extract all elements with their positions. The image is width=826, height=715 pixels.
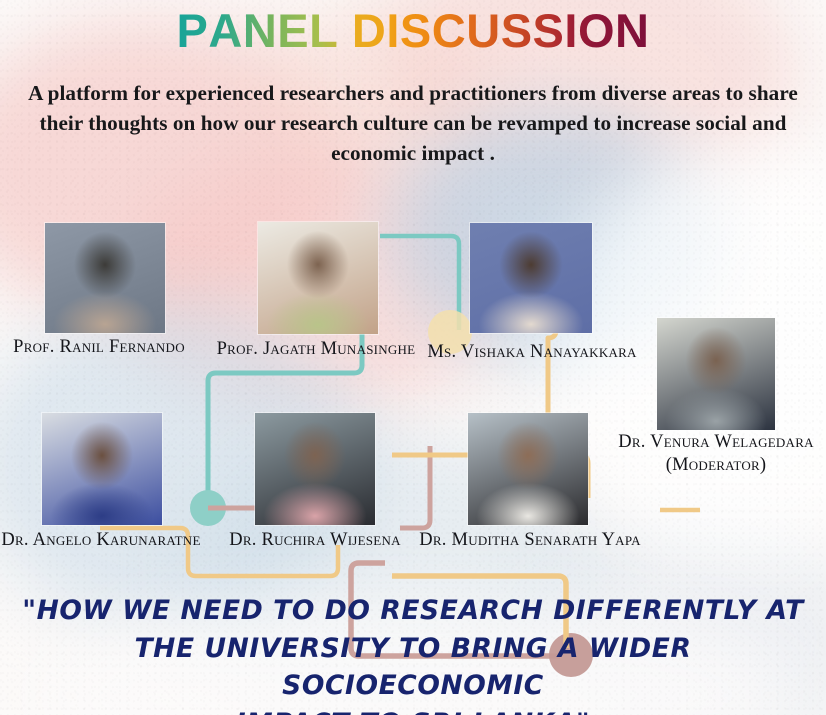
title-char: L xyxy=(309,6,338,56)
title-char: S xyxy=(533,6,565,56)
background-wash-pink-top-left xyxy=(0,20,360,320)
title-char xyxy=(338,6,352,56)
panelist-photo xyxy=(42,413,162,525)
page-title: PANEL DISCUSSION xyxy=(0,6,826,56)
quote-line: "HOW WE NEED TO DO RESEARCH DIFFERENTLY … xyxy=(20,592,806,630)
panelist-photo xyxy=(258,222,378,334)
title-char: P xyxy=(177,6,209,56)
panelist-photo xyxy=(45,223,165,333)
background-wash-blue-left xyxy=(0,300,370,630)
title-char: E xyxy=(277,6,309,56)
quote-line: THE UNIVERSITY TO BRING A WIDER SOCIOECO… xyxy=(20,630,806,705)
title-char: S xyxy=(400,6,432,56)
title-char: A xyxy=(208,6,242,56)
title-char: O xyxy=(578,6,615,56)
title-char: C xyxy=(432,6,466,56)
panelist-name: Dr. Muditha Senarath Yapa xyxy=(419,530,641,551)
background-wash-pink-middle xyxy=(120,150,520,410)
title-char: S xyxy=(501,6,533,56)
panelist-name: Dr. Venura Welagedara xyxy=(618,432,814,453)
title-char: U xyxy=(466,6,500,56)
subtitle-text: A platform for experienced researchers a… xyxy=(18,78,808,168)
title-char: N xyxy=(615,6,649,56)
panelist-name: Dr. Angelo Karunaratne xyxy=(1,530,200,551)
title-char: I xyxy=(564,6,578,56)
panelist-name: Ms. Vishaka Nanayakkara xyxy=(427,342,636,363)
panelist-photo xyxy=(470,223,592,333)
title-char: I xyxy=(386,6,400,56)
title-char: N xyxy=(243,6,277,56)
panelist-name: Prof. Jagath Munasinghe xyxy=(217,339,416,360)
panelist-photo xyxy=(255,413,375,525)
panelist-photo xyxy=(468,413,588,525)
title-char: D xyxy=(352,6,386,56)
closing-quote: "HOW WE NEED TO DO RESEARCH DIFFERENTLY … xyxy=(20,592,806,715)
quote-line: IMPACT TO SRI LANKA" xyxy=(20,705,806,715)
panelist-role: (Moderator) xyxy=(666,455,767,476)
background-wash-white-right xyxy=(560,140,826,560)
panelist-name: Dr. Ruchira Wijesena xyxy=(229,530,400,551)
panelist-photo xyxy=(657,318,775,430)
panelist-name: Prof. Ranil Fernando xyxy=(13,337,185,358)
panel-discussion-poster: PANEL DISCUSSION A platform for experien… xyxy=(0,0,826,715)
